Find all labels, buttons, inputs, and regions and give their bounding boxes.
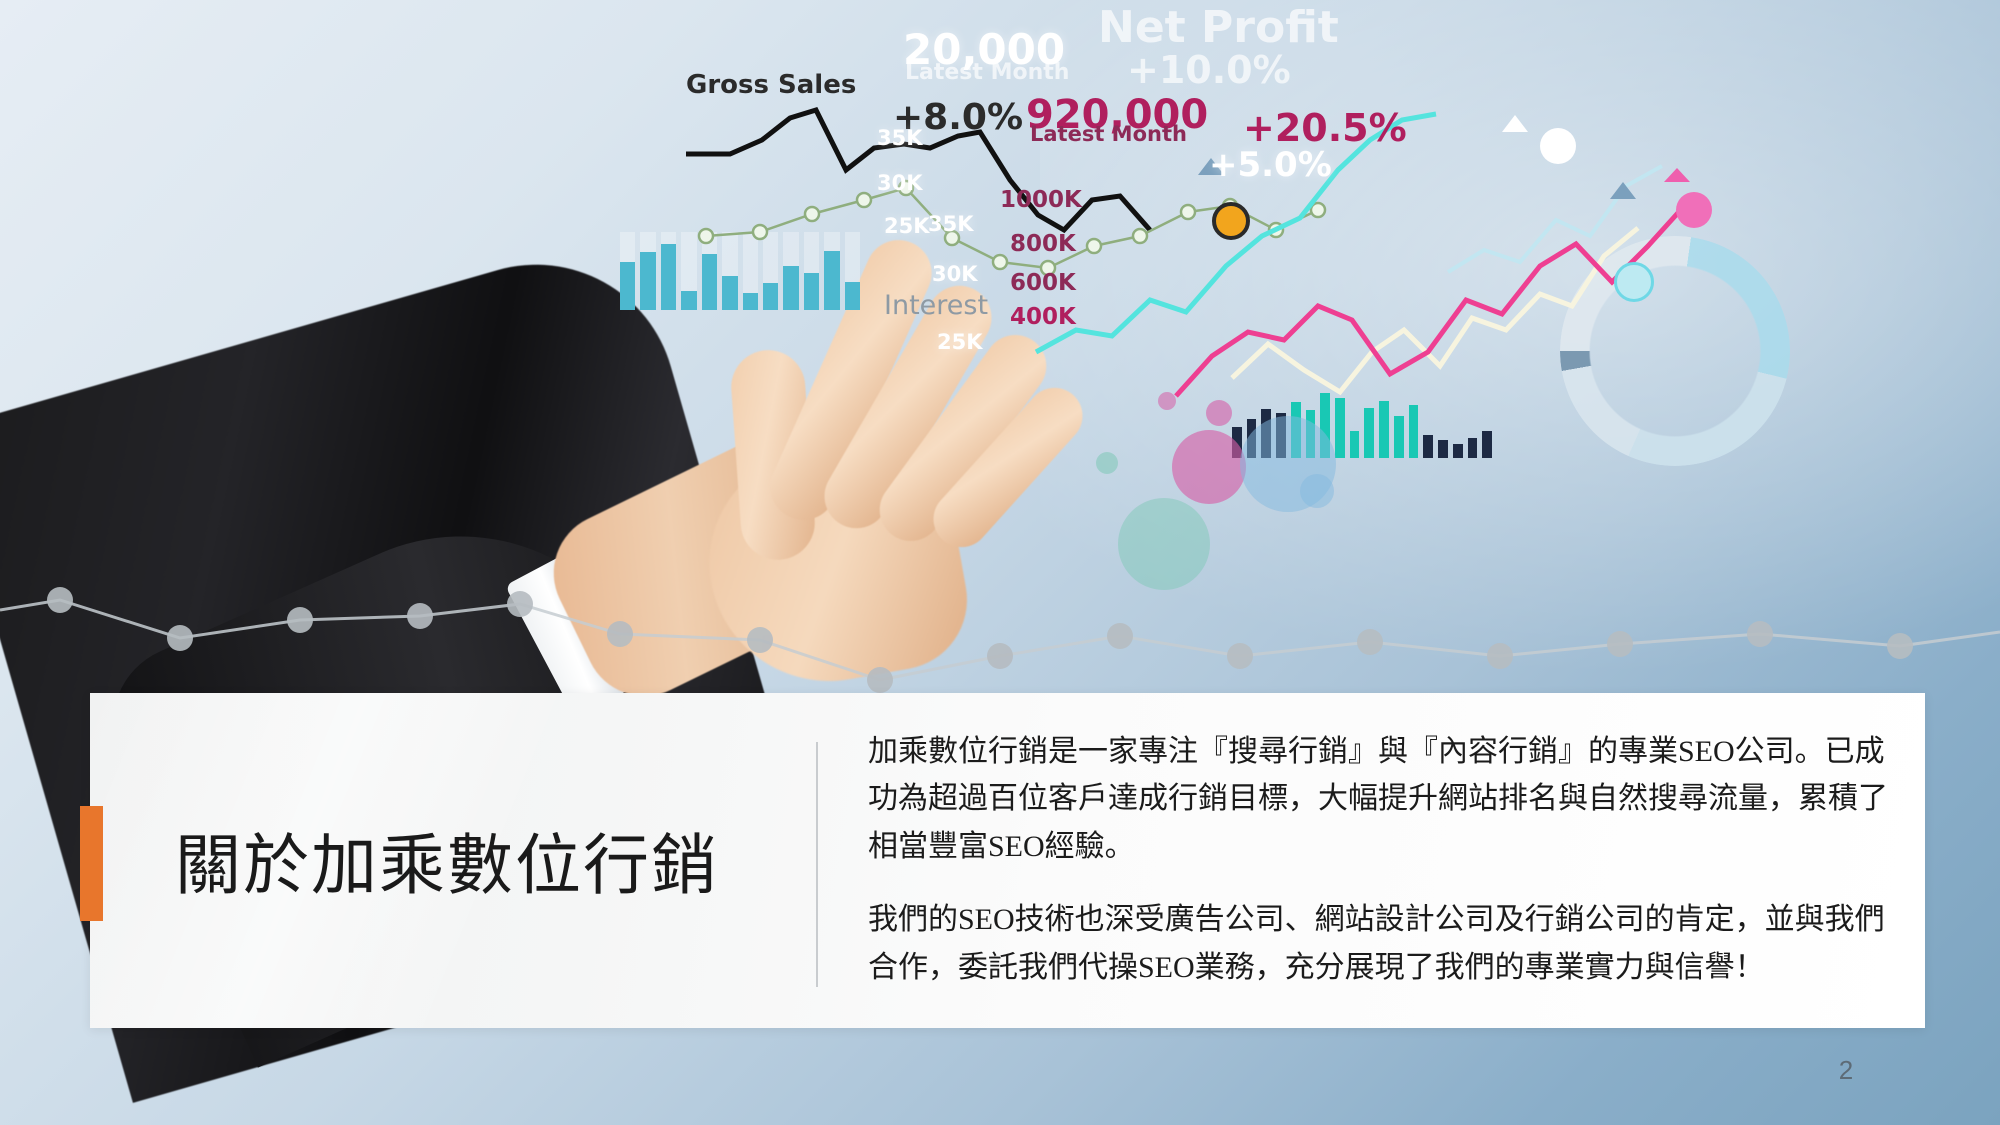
analytics-label: +20.5% bbox=[1243, 106, 1407, 150]
analytics-label: 25K bbox=[937, 330, 983, 354]
analytics-label: 400K bbox=[1010, 304, 1076, 330]
body-text: 加乘數位行銷是一家專注『搜尋行銷』與『內容行銷』的專業SEO公司。已成功為超過百… bbox=[868, 728, 1888, 991]
line-chart-svg bbox=[0, 0, 2000, 620]
analytics-label: 600K bbox=[1010, 270, 1076, 296]
bubble-tiny-green bbox=[1096, 452, 1118, 474]
page-number: 2 bbox=[1826, 1055, 1866, 1086]
analytics-label: Latest Month bbox=[905, 60, 1069, 85]
series-projection bbox=[1232, 228, 1638, 392]
analytics-label: Net Profit bbox=[1098, 2, 1339, 53]
marker-dot-orange bbox=[1212, 202, 1250, 240]
analytics-label: 800K bbox=[1010, 231, 1076, 257]
analytics-label: Gross Sales bbox=[686, 70, 856, 100]
marker-triangle-pink bbox=[1664, 168, 1690, 182]
analytics-label: 1000K bbox=[1000, 187, 1082, 213]
analytics-label: +5.0% bbox=[1209, 145, 1332, 185]
analytics-label: +10.0% bbox=[1127, 48, 1291, 92]
accent-bar bbox=[80, 806, 103, 921]
body-paragraph: 我們的SEO技術也深受廣告公司、網站設計公司及行銷公司的肯定，並與我們合作，委託… bbox=[868, 896, 1888, 991]
marker-dot-white bbox=[1540, 128, 1576, 164]
marker-dot-cyan bbox=[1614, 262, 1654, 302]
bubble-small-pink-1 bbox=[1206, 400, 1232, 426]
bubble-large-pink bbox=[1172, 430, 1246, 504]
slide: Gross Sales20,000Latest Month+8.0%35K30K… bbox=[0, 0, 2000, 1125]
analytics-label: 35K bbox=[928, 212, 974, 236]
analytics-label: 30K bbox=[877, 171, 923, 195]
body-paragraph: 加乘數位行銷是一家專注『搜尋行銷』與『內容行銷』的專業SEO公司。已成功為超過百… bbox=[868, 728, 1888, 870]
title-body-divider bbox=[816, 742, 818, 987]
analytics-label: Interest bbox=[884, 290, 988, 321]
bubble-small-blue bbox=[1300, 474, 1334, 508]
series-growth bbox=[1176, 204, 1686, 396]
bubble-small-pink-2 bbox=[1158, 392, 1176, 410]
analytics-label: 25K bbox=[884, 214, 930, 238]
page-title: 關於加乘數位行銷 bbox=[175, 780, 795, 940]
marker-triangle-blue-right bbox=[1610, 182, 1636, 199]
analytics-label: 30K bbox=[932, 262, 978, 286]
analytics-label: Latest Month bbox=[1030, 122, 1187, 146]
marker-dot-pink bbox=[1676, 192, 1712, 228]
marker-triangle-white bbox=[1502, 115, 1528, 132]
analytics-label: 35K bbox=[877, 126, 923, 150]
